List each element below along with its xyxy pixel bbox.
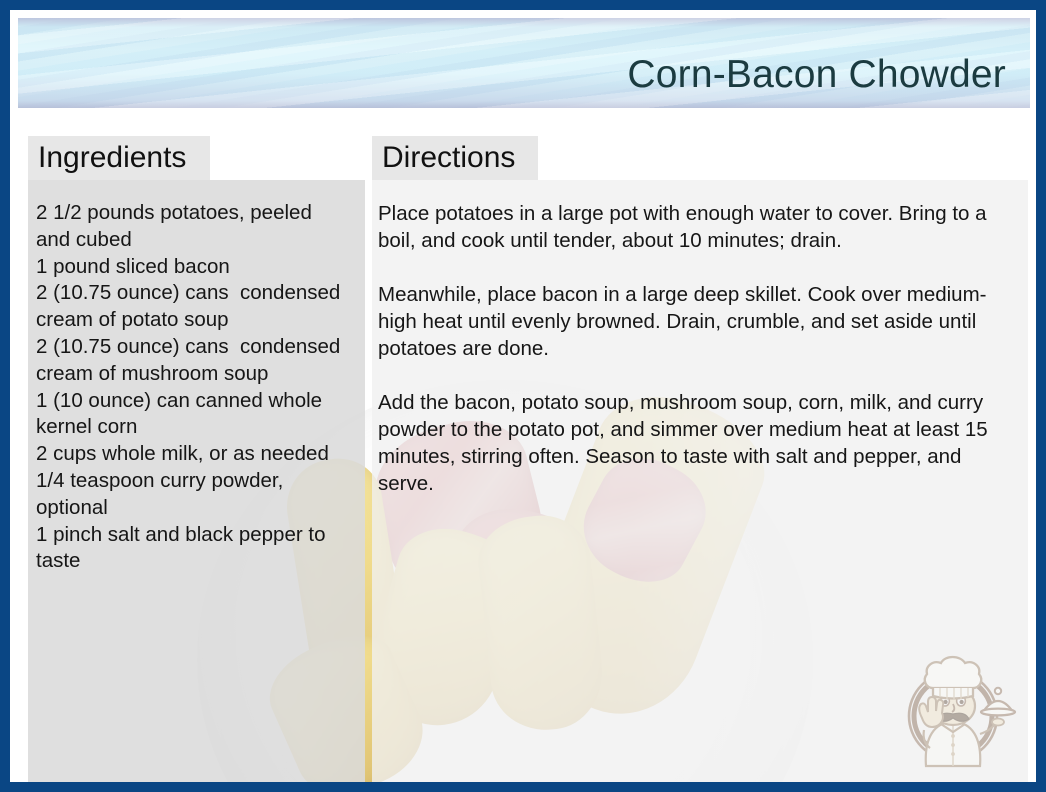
list-item: 1/4 teaspoon curry powder, optional [36, 468, 351, 522]
direction-step: Meanwhile, place bacon in a large deep s… [378, 281, 1014, 362]
list-item: 2 (10.75 ounce) cans condensed cream of … [36, 334, 351, 388]
list-item: 2 (10.75 ounce) cans condensed cream of … [36, 280, 351, 334]
list-item: 1 pinch salt and black pepper to taste [36, 522, 351, 576]
direction-step: Add the bacon, potato soup, mushroom sou… [378, 389, 1014, 497]
list-item: 2 1/2 pounds potatoes, peeled and cubed [36, 200, 351, 254]
list-item: 1 (10 ounce) can canned whole kernel cor… [36, 388, 351, 442]
directions-panel: Place potatoes in a large pot with enoug… [372, 180, 1028, 788]
list-item: 1 pound sliced bacon [36, 254, 351, 281]
direction-step: Place potatoes in a large pot with enoug… [378, 200, 1014, 254]
ingredients-heading-label: Ingredients [28, 143, 186, 173]
directions-heading-label: Directions [372, 143, 515, 173]
list-item: 2 cups whole milk, or as needed [36, 441, 351, 468]
directions-heading-tab: Directions [372, 136, 538, 180]
ingredients-heading-tab: Ingredients [28, 136, 210, 180]
page-title: Corn-Bacon Chowder [627, 55, 1006, 96]
recipe-card-slide: Corn-Bacon Chowder Ingredients Direction… [0, 0, 1046, 792]
ingredients-panel: 2 1/2 pounds potatoes, peeled and cubed … [28, 180, 365, 788]
title-banner: Corn-Bacon Chowder [18, 18, 1030, 108]
